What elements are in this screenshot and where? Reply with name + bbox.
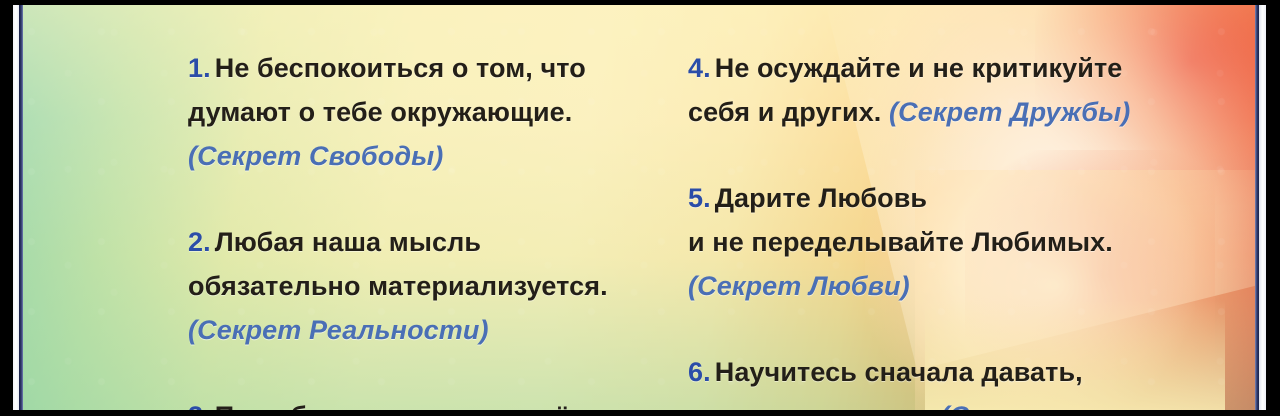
rule-item-1: 1.Не беспокоиться о том, что думают о те…: [188, 46, 658, 178]
rule-5-line-2: и не переделывайте Любимых.: [688, 220, 1188, 264]
letterbox-bottom: [0, 410, 1280, 416]
rule-2-text-1: Любая наша мысль: [215, 227, 481, 257]
rule-4-secret: (Секрет Дружбы): [889, 97, 1130, 127]
letterbox-top: [0, 0, 1280, 5]
rule-6-number: 6.: [688, 357, 711, 387]
rule-item-6: 6.Научитесь сначала давать, а потом полу…: [688, 350, 1188, 416]
rule-1-text-1: Не беспокоиться о том, что: [215, 53, 586, 83]
page-edge-white-right: [1259, 0, 1266, 416]
rule-5-text-1: Дарите Любовь: [715, 183, 927, 213]
rule-item-4: 4.Не осуждайте и не критикуйте себя и др…: [688, 46, 1188, 134]
rule-4-line-1: 4.Не осуждайте и не критикуйте: [688, 46, 1188, 90]
rule-4-number: 4.: [688, 53, 711, 83]
rule-2-secret: (Секрет Реальности): [188, 308, 658, 352]
letterbox-right: [1266, 0, 1280, 416]
spacer-left-2: [188, 380, 658, 394]
rule-1-secret: (Секрет Свободы): [188, 134, 658, 178]
poster-canvas: 1.Не беспокоиться о том, что думают о те…: [0, 0, 1280, 416]
rule-4-text-2: себя и других.: [688, 97, 889, 127]
rule-2-line-2: обязательно материализуется.: [188, 264, 658, 308]
page-edge-navy-left: [19, 0, 23, 416]
rule-5-secret: (Секрет Любви): [688, 264, 1188, 308]
page-edge-navy-right: [1255, 0, 1259, 416]
rule-item-2: 2.Любая наша мысль обязательно материали…: [188, 220, 658, 352]
rule-1-line-1: 1.Не беспокоиться о том, что: [188, 46, 658, 90]
rule-6-text-1: Научитесь сначала давать,: [715, 357, 1083, 387]
rule-4-text-1: Не осуждайте и не критикуйте: [715, 53, 1123, 83]
rule-item-5: 5.Дарите Любовь и не переделывайте Любим…: [688, 176, 1188, 308]
text-columns: 1.Не беспокоиться о том, что думают о те…: [0, 0, 1280, 416]
letterbox-left: [0, 0, 13, 416]
left-column: 1.Не беспокоиться о том, что думают о те…: [188, 46, 658, 416]
rule-6-line-1: 6.Научитесь сначала давать,: [688, 350, 1188, 394]
rule-4-line-2: себя и других. (Секрет Дружбы): [688, 90, 1188, 134]
right-column: 4.Не осуждайте и не критикуйте себя и др…: [688, 46, 1188, 416]
spacer-left-1: [188, 206, 658, 220]
rule-2-number: 2.: [188, 227, 211, 257]
rule-1-number: 1.: [188, 53, 211, 83]
rule-2-line-1: 2.Любая наша мысль: [188, 220, 658, 264]
spacer-right-1: [688, 162, 1188, 176]
rule-5-number: 5.: [688, 183, 711, 213]
rule-5-line-1: 5.Дарите Любовь: [688, 176, 1188, 220]
rule-1-line-2: думают о тебе окружающие.: [188, 90, 658, 134]
spacer-right-2: [688, 336, 1188, 350]
